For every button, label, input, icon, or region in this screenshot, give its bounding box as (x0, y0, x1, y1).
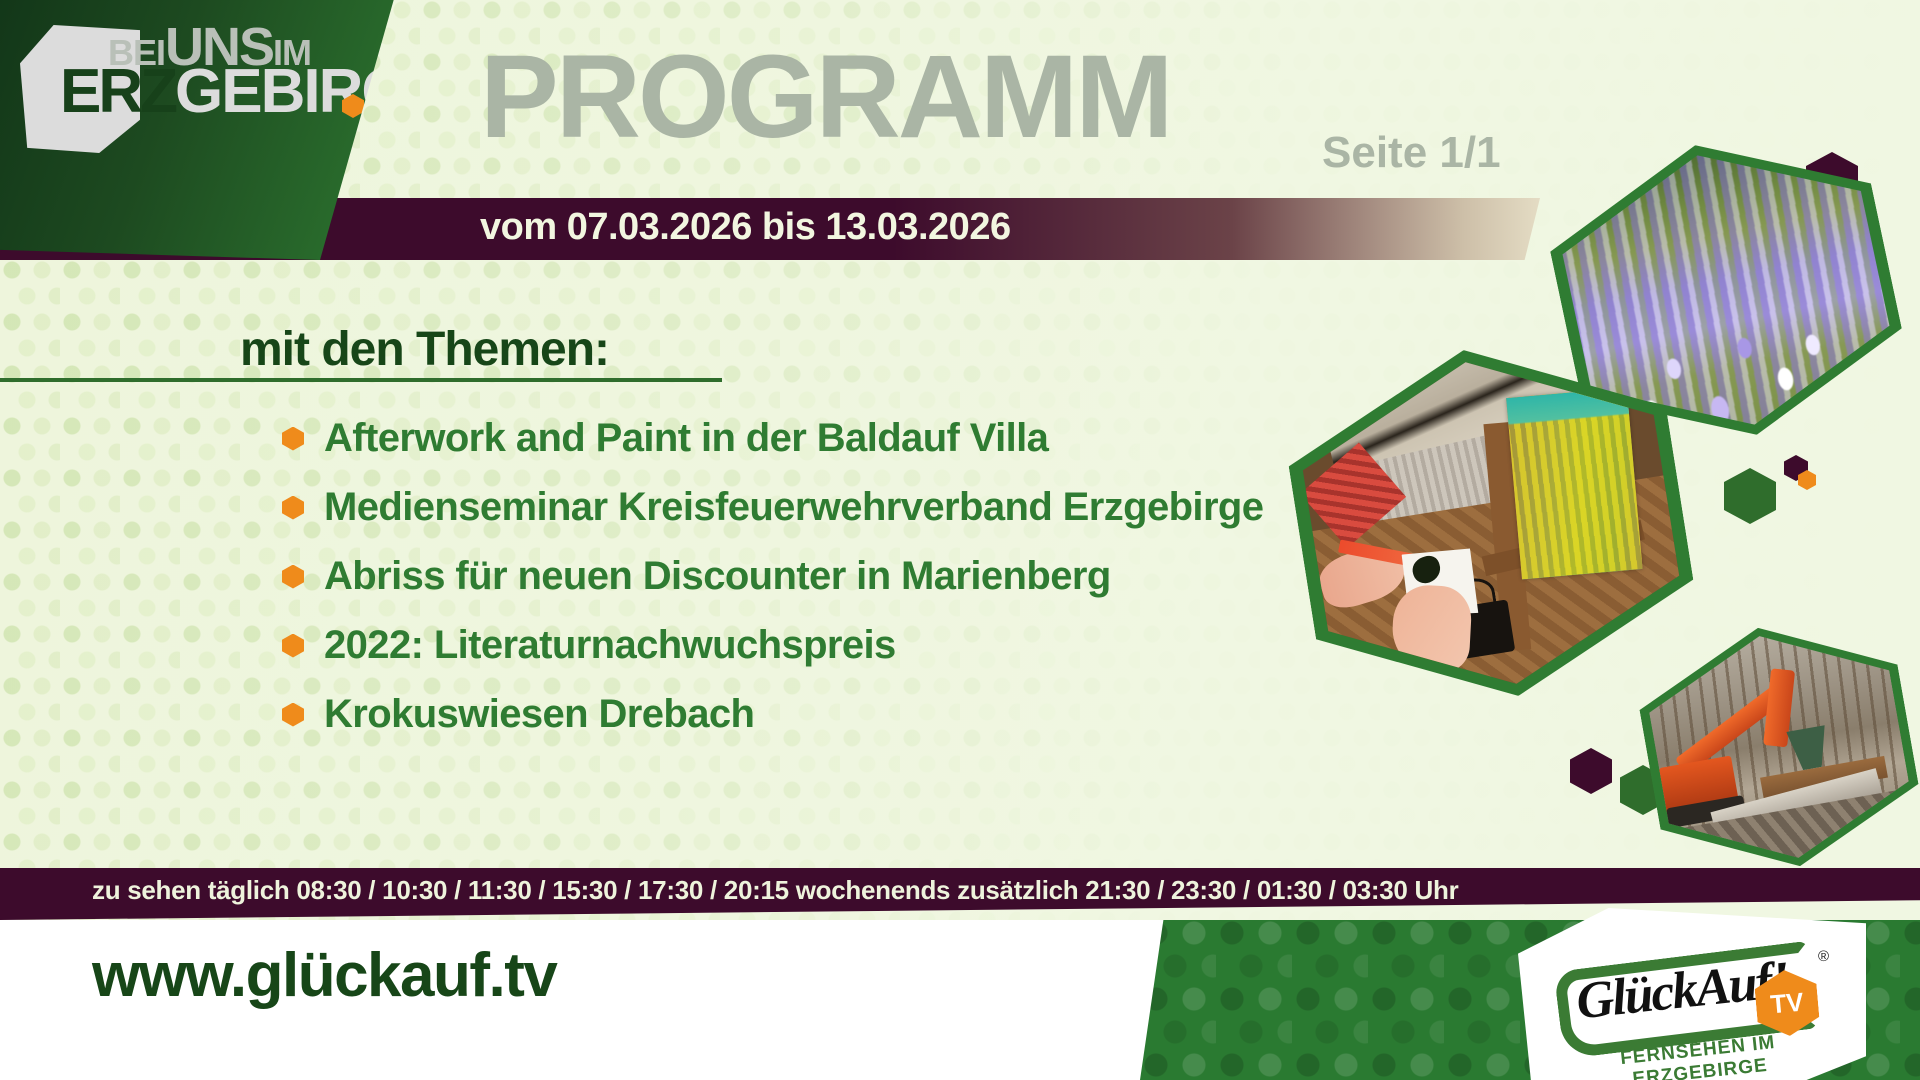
registered-trademark-icon: ® (1818, 948, 1829, 965)
website-url[interactable]: www.glückauf.tv (92, 940, 556, 1011)
broadcast-times-text: zu sehen täglich 08:30 / 10:30 / 11:30 /… (92, 875, 1458, 906)
date-range-text: vom 07.03.2026 bis 13.03.2026 (480, 206, 1011, 249)
list-item: Afterwork and Paint in der Baldauf Villa (282, 404, 1312, 473)
list-item: 2022: Literaturnachwuchspreis (282, 611, 1312, 680)
topics-list: Afterwork and Paint in der Baldauf Villa… (282, 404, 1312, 749)
photo-frame (1629, 605, 1920, 889)
photo-image (1639, 615, 1918, 879)
topic-label: Abriss für neuen Discounter in Marienber… (324, 554, 1111, 599)
excavator-image-content (1639, 615, 1918, 879)
topics-heading-divider (0, 378, 722, 382)
canvas-painting-detail (1507, 387, 1643, 579)
glueckauf-tv-logo[interactable]: GlückAuf! ® TV FERNSEHEN IM ERZGEBIRGE (1518, 908, 1866, 1080)
list-item: Krokuswiesen Drebach (282, 680, 1312, 749)
topic-label: Medienseminar Kreisfeuerwehrverband Erzg… (324, 485, 1263, 530)
hexagon-bullet-icon (282, 496, 304, 520)
excavator-demolition-photo (1629, 605, 1920, 889)
programm-slide: BEI UNS IM ERZGEBIRGE PROGRAMM Seite 1/1… (0, 0, 1920, 1080)
list-item: Medienseminar Kreisfeuerwehrverband Erzg… (282, 473, 1312, 542)
topic-label: 2022: Literaturnachwuchspreis (324, 623, 896, 668)
hexagon-bullet-icon (282, 427, 304, 451)
hexagon-bullet-icon (282, 565, 304, 589)
page-title: PROGRAMM (480, 38, 1171, 156)
list-item: Abriss für neuen Discounter in Marienber… (282, 542, 1312, 611)
hand-holding-palette-detail (1391, 584, 1473, 673)
hexagon-bullet-icon (282, 703, 304, 727)
logo-text-erz: ERZ (60, 57, 175, 126)
logo-inner: BEI UNS IM ERZGEBIRGE (20, 20, 380, 150)
hexagon-bullet-icon (282, 634, 304, 658)
topics-heading: mit den Themen: (240, 322, 609, 377)
topic-label: Afterwork and Paint in der Baldauf Villa (324, 416, 1048, 461)
topic-label: Krokuswiesen Drebach (324, 692, 754, 737)
page-number-label: Seite 1/1 (1322, 128, 1501, 178)
